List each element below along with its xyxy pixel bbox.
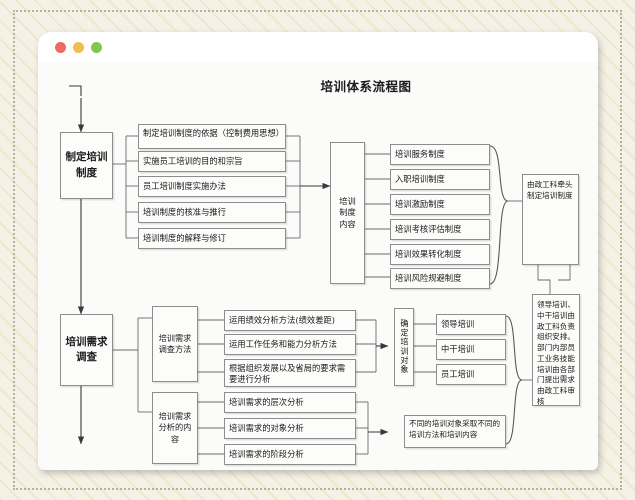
group-label-survey-method[interactable]: 培训需求调查方法 xyxy=(152,306,198,382)
list-item[interactable]: 培训制度的解释与修订 xyxy=(138,228,286,249)
stage-box-establish-system[interactable]: 制定培训制度 xyxy=(60,132,113,199)
list-item[interactable]: 培训需求的层次分析 xyxy=(224,392,356,413)
list-item[interactable]: 培训制度的核准与推行 xyxy=(138,202,286,223)
list-item[interactable]: 运用绩效分析方法(绩效差距) xyxy=(224,310,356,331)
list-item[interactable]: 制定培训制度的依据（控制费用思想） xyxy=(138,124,286,149)
maximize-button[interactable] xyxy=(91,42,102,53)
group-label-training-target[interactable]: 确定培训对象 xyxy=(394,308,414,386)
window-titlebar xyxy=(38,32,598,62)
minimize-button[interactable] xyxy=(73,42,84,53)
list-item[interactable]: 培训服务制度 xyxy=(390,144,490,165)
stage-label: 培训需求调查 xyxy=(61,332,112,368)
flowchart-canvas: 培训体系流程图 制定培训制度 培训需求调查 制定培训制度的依据（控制费用思想） … xyxy=(38,62,598,470)
stage-label: 制定培训制度 xyxy=(61,147,112,183)
list-item[interactable]: 培训风险规避制度 xyxy=(390,268,490,289)
list-item[interactable]: 中干培训 xyxy=(436,339,506,360)
list-item[interactable]: 员工培训 xyxy=(436,364,506,385)
page-background: 培训体系流程图 制定培训制度 培训需求调查 制定培训制度的依据（控制费用思想） … xyxy=(0,0,635,500)
close-button[interactable] xyxy=(55,42,66,53)
app-window: 培训体系流程图 制定培训制度 培训需求调查 制定培训制度的依据（控制费用思想） … xyxy=(38,32,598,470)
outcome-box-method[interactable]: 不同的培训对象采取不同的培训方法和培训内容 xyxy=(404,415,506,448)
list-item[interactable]: 员工培训制度实施办法 xyxy=(138,176,286,197)
list-item[interactable]: 运用工作任务和能力分析方法 xyxy=(224,334,356,355)
list-item[interactable]: 培训考核评估制度 xyxy=(390,219,490,240)
list-item[interactable]: 培训需求的阶段分析 xyxy=(224,444,356,465)
outcome-box-system[interactable]: 由政工科牵头制定培训制度 xyxy=(522,174,579,265)
chart-title: 培训体系流程图 xyxy=(286,76,446,95)
list-item[interactable]: 领导培训 xyxy=(436,314,506,335)
group-label-analysis-content[interactable]: 培训需求分析的内容 xyxy=(152,392,198,464)
list-item[interactable]: 实施员工培训的目的和宗旨 xyxy=(138,151,286,172)
group-label-system-content[interactable]: 培训制度内容 xyxy=(330,142,365,284)
list-item[interactable]: 培训激励制度 xyxy=(390,194,490,215)
list-item[interactable]: 培训需求的对象分析 xyxy=(224,418,356,439)
list-item[interactable]: 入职培训制度 xyxy=(390,169,490,190)
stage-box-needs-survey[interactable]: 培训需求调查 xyxy=(60,314,113,386)
list-item[interactable]: 培训效果转化制度 xyxy=(390,244,490,265)
list-item[interactable]: 根据组织发展以及省局的要求需要进行分析 xyxy=(224,359,356,387)
outcome-box-organize[interactable]: 领导培训、中干培训由政工科负责组织安排。部门内部员工业务技能培训由各部门提出需求… xyxy=(532,294,580,406)
